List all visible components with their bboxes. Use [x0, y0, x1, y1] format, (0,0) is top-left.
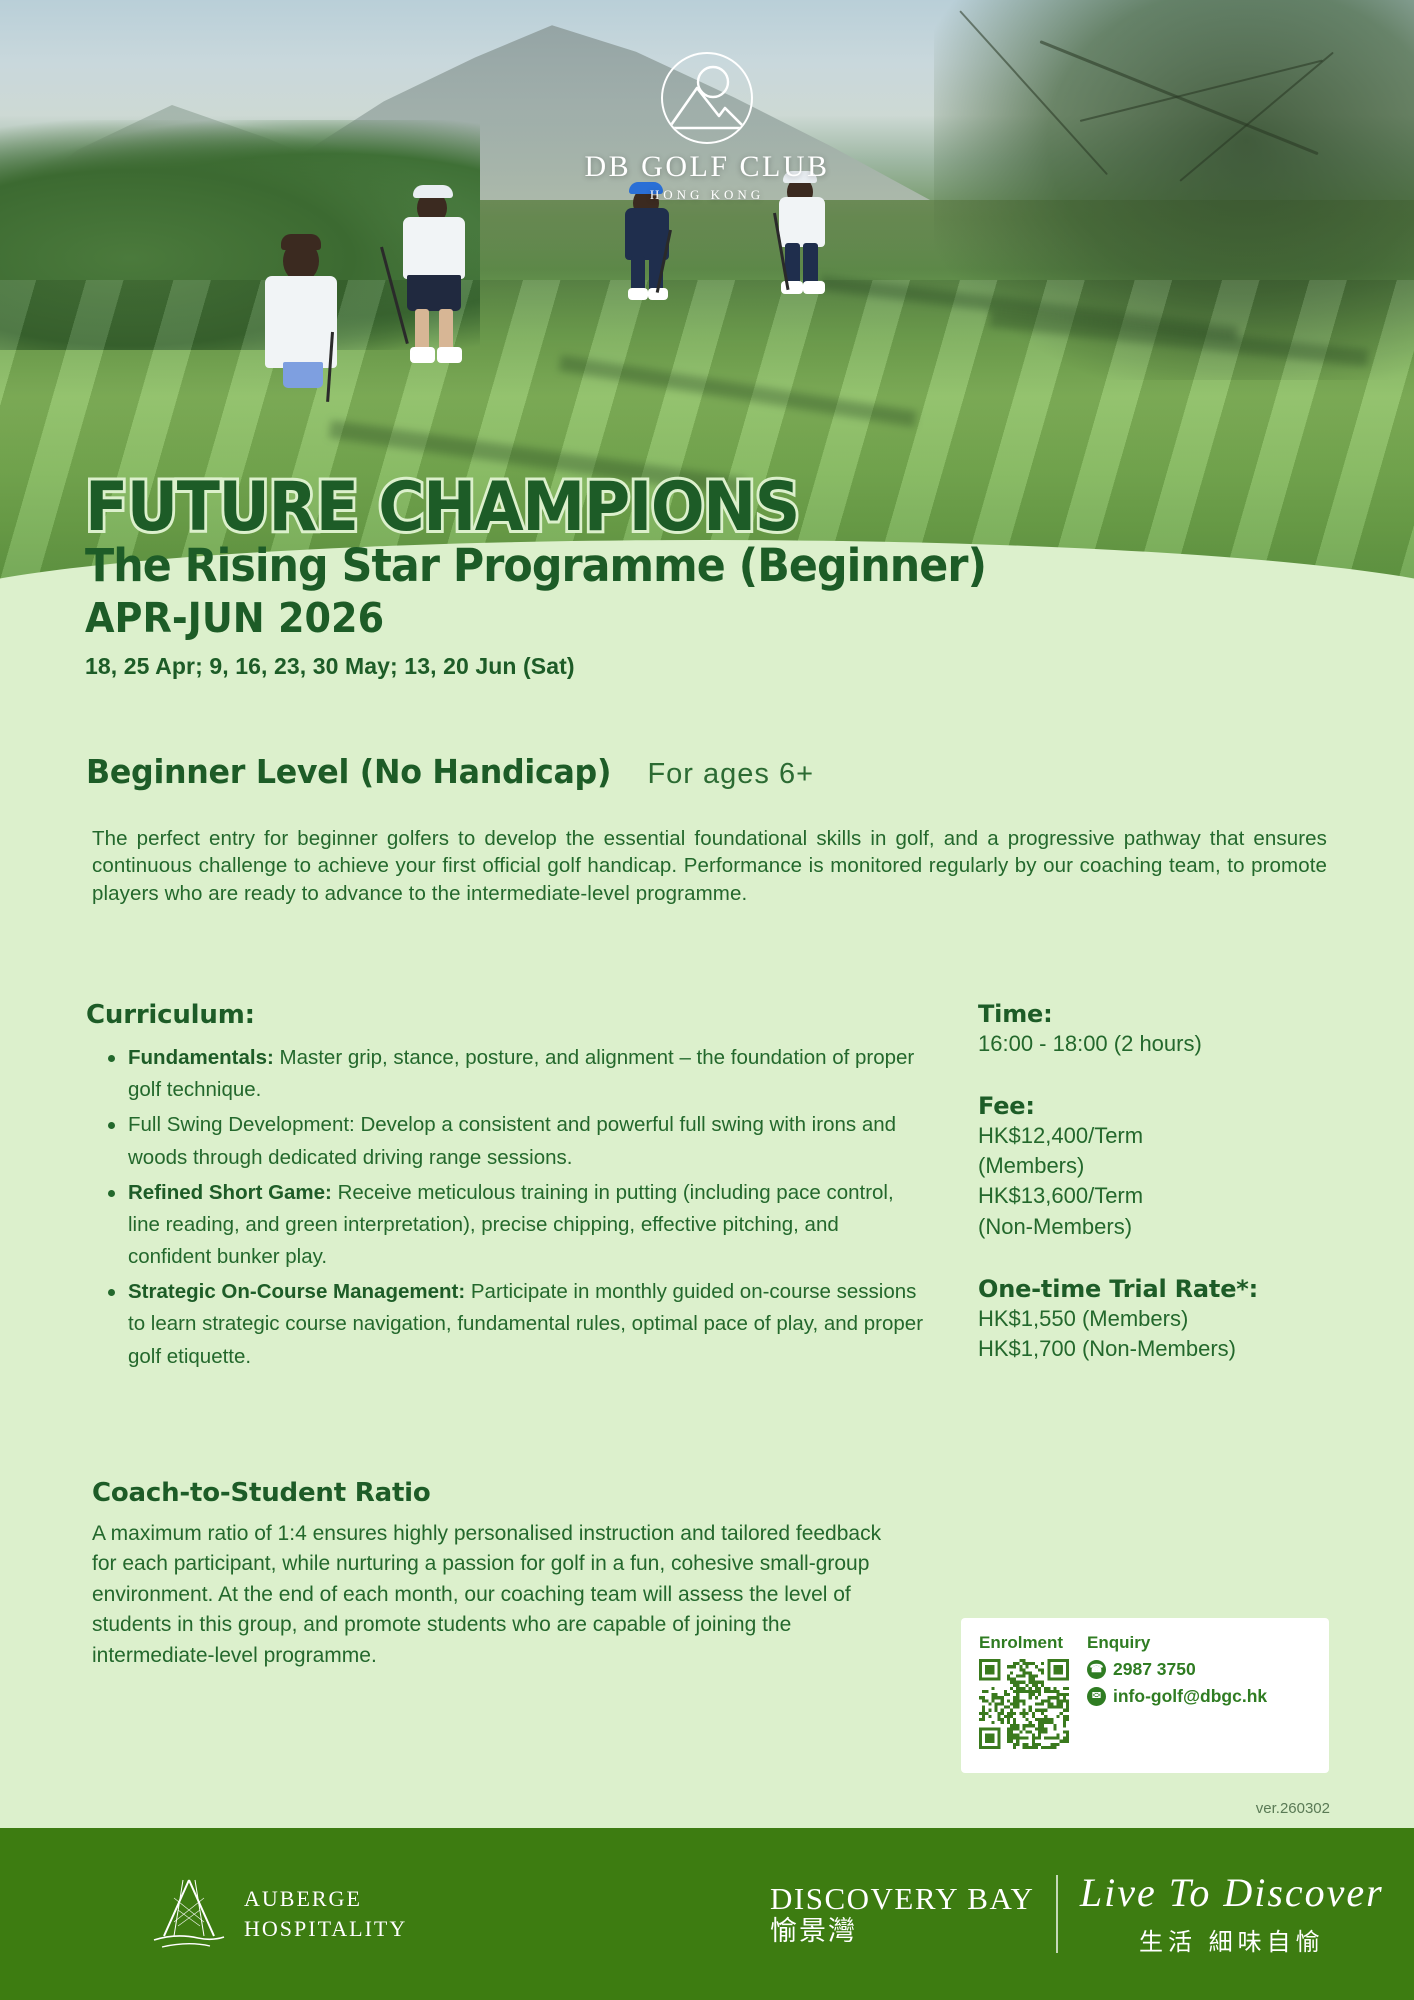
phone-number: 2987 3750: [1113, 1659, 1196, 1680]
phone-row[interactable]: ☎ 2987 3750: [1087, 1659, 1267, 1680]
mountain-sun-logo-icon: [661, 52, 753, 144]
curriculum-heading: Curriculum:: [86, 1000, 926, 1030]
slogan-block: Live To Discover 生活 細味自愉: [1080, 1872, 1384, 1957]
level-title: Beginner Level (No Handicap): [86, 752, 611, 791]
player-figure: [385, 185, 505, 365]
enrolment-block: Enrolment: [979, 1633, 1069, 1749]
fee-label: Fee:: [978, 1092, 1318, 1120]
time-label: Time:: [978, 1000, 1318, 1028]
contact-card: Enrolment Enquiry ☎ 2987 3750: [961, 1618, 1329, 1773]
level-heading-row: Beginner Level (No Handicap) For ages 6+: [86, 752, 814, 791]
curriculum-item-lead: Strategic On-Course Management:: [128, 1280, 465, 1303]
curriculum-item-lead: Refined Short Game:: [128, 1181, 332, 1204]
email-address: info-golf@dbgc.hk: [1113, 1686, 1267, 1707]
curriculum-item: Strategic On-Course Management: Particip…: [86, 1276, 926, 1373]
enquiry-block: Enquiry ☎ 2987 3750 ✉ info-golf@dbgc.hk: [1087, 1633, 1267, 1749]
curriculum-list: Fundamentals: Master grip, stance, postu…: [86, 1042, 926, 1373]
auberge-line-1: Auberge: [244, 1884, 407, 1914]
footer-divider: [1056, 1875, 1058, 1953]
discovery-bay-logo: DISCOVERY BAY 愉景灣: [770, 1883, 1034, 1945]
fee-members-amount: HK$12,400/Term: [978, 1122, 1318, 1150]
version-label: ver.260302: [0, 1800, 1330, 1817]
session-dates: 18, 25 Apr; 9, 16, 23, 30 May; 13, 20 Ju…: [85, 653, 1033, 680]
phone-icon: ☎: [1087, 1660, 1106, 1679]
email-row[interactable]: ✉ info-golf@dbgc.hk: [1087, 1686, 1267, 1707]
programme-intro: The perfect entry for beginner golfers t…: [92, 825, 1327, 907]
logo-subtitle: HONG KONG: [0, 187, 1414, 203]
curriculum-section: Curriculum: Fundamentals: Master grip, s…: [86, 1000, 926, 1376]
details-column: Time: 16:00 - 18:00 (2 hours) Fee: HK$12…: [978, 1000, 1318, 1363]
slogan-en: Live To Discover: [1080, 1872, 1384, 1914]
discovery-bay-branding: DISCOVERY BAY 愉景灣 Live To Discover 生活 細味…: [770, 1872, 1384, 1957]
page-title: FUTURE CHAMPIONS: [85, 475, 967, 540]
curriculum-item: Refined Short Game: Receive meticulous t…: [86, 1177, 926, 1274]
trial-rate-label: One-time Trial Rate*:: [978, 1275, 1318, 1303]
discovery-bay-en: DISCOVERY BAY: [770, 1883, 1034, 1914]
enquiry-label: Enquiry: [1087, 1633, 1267, 1653]
curriculum-item-lead: Full Swing Development:: [128, 1113, 355, 1136]
curriculum-item: Fundamentals: Master grip, stance, postu…: [86, 1042, 926, 1106]
qr-code[interactable]: [979, 1659, 1069, 1749]
auberge-hospitality-logo: Auberge Hospitality: [150, 1874, 407, 1954]
auberge-tent-icon: [150, 1874, 228, 1954]
time-value: 16:00 - 18:00 (2 hours): [978, 1030, 1318, 1058]
footer-bar: Auberge Hospitality DISCOVERY BAY 愉景灣 Li…: [0, 1828, 1414, 2000]
db-golf-club-logo: DB GOLF CLUB HONG KONG: [0, 52, 1414, 203]
envelope-icon: ✉: [1087, 1687, 1106, 1706]
enrolment-label: Enrolment: [979, 1633, 1069, 1653]
fee-members-note: (Members): [978, 1152, 1318, 1180]
fee-nonmembers-note: (Non-Members): [978, 1213, 1318, 1241]
logo-wordmark: DB GOLF CLUB: [0, 152, 1414, 182]
trial-rate-nonmembers: HK$1,700 (Non-Members): [978, 1335, 1318, 1363]
coach-ratio-section: Coach-to-Student Ratio A maximum ratio o…: [92, 1478, 892, 1671]
curriculum-item-lead: Fundamentals:: [128, 1046, 274, 1069]
trial-rate-members: HK$1,550 (Members): [978, 1305, 1318, 1333]
curriculum-item: Full Swing Development: Develop a consis…: [86, 1109, 926, 1173]
fee-nonmembers-amount: HK$13,600/Term: [978, 1182, 1318, 1210]
player-figure: [245, 240, 365, 400]
coach-ratio-heading: Coach-to-Student Ratio: [92, 1478, 892, 1508]
season-label: APR-JUN 2026: [85, 594, 967, 642]
poster-root: DB GOLF CLUB HONG KONG FUTURE CHAMPIONS …: [0, 0, 1414, 2000]
headline-group: FUTURE CHAMPIONS The Rising Star Program…: [85, 475, 1033, 680]
slogan-zh: 生活 細味自愉: [1080, 1922, 1384, 1957]
age-requirement: For ages 6+: [647, 758, 814, 790]
programme-subtitle: The Rising Star Programme (Beginner): [85, 542, 986, 589]
discovery-bay-zh: 愉景灣: [770, 1918, 1034, 1945]
auberge-line-2: Hospitality: [244, 1914, 407, 1944]
coach-ratio-body: A maximum ratio of 1:4 ensures highly pe…: [92, 1519, 892, 1671]
